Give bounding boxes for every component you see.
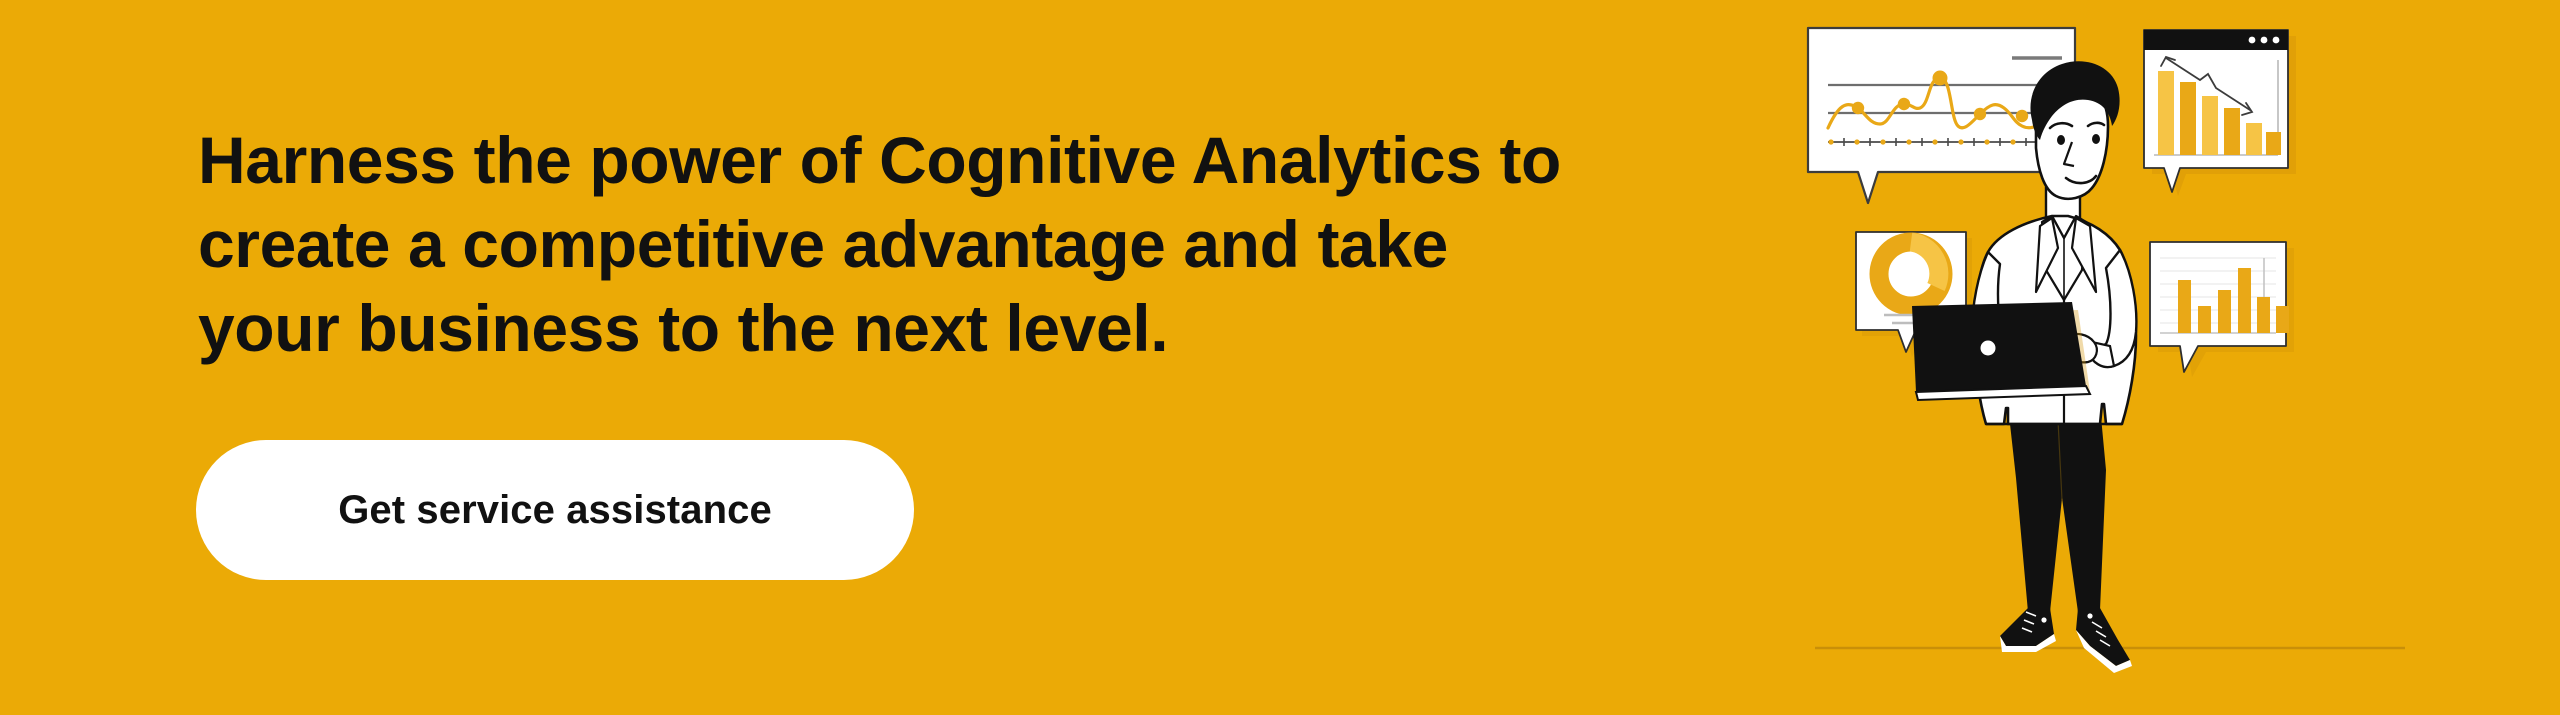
bar-chart-bubble — [2150, 242, 2294, 377]
laptop — [1912, 302, 2090, 400]
head — [2030, 61, 2119, 199]
analyst-illustration — [1800, 0, 2420, 715]
page-title: Harness the power of Cognitive Analytics… — [198, 118, 1698, 370]
window-dots — [2249, 37, 2280, 44]
headline-line-2: create a competitive advantage and take — [198, 202, 1698, 286]
get-service-assistance-button[interactable]: Get service assistance — [196, 440, 914, 580]
left-shoe — [2000, 608, 2056, 652]
headline-line-1: Harness the power of Cognitive Analytics… — [198, 118, 1698, 202]
promo-banner: Harness the power of Cognitive Analytics… — [0, 0, 2560, 715]
banner-copy: Harness the power of Cognitive Analytics… — [198, 118, 1698, 370]
trousers — [2008, 406, 2106, 612]
right-shoe — [2076, 608, 2132, 673]
headline-line-3: your business to the next level. — [198, 286, 1698, 370]
browser-window-bar-chart — [2144, 30, 2296, 196]
